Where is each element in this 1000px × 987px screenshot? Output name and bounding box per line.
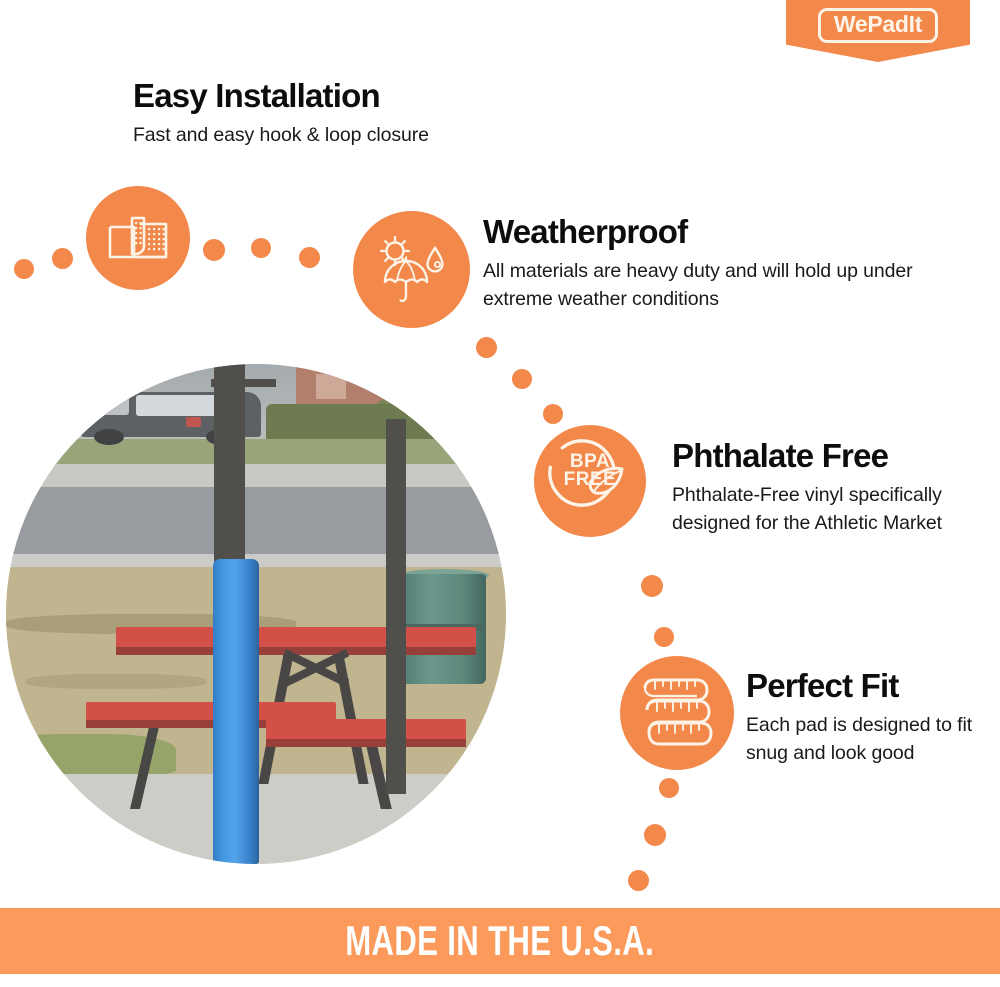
trail-dot [659, 778, 679, 798]
brand-logo[interactable]: WePadIt [786, 0, 970, 62]
trail-dot [251, 238, 271, 258]
logo-outline: WePadIt [818, 8, 938, 43]
feature-desc-easy-installation: Fast and easy hook & loop closure [133, 122, 653, 150]
trail-dot [52, 248, 73, 269]
feature-text-perfect-fit: Perfect Fit Each pad is designed to fit … [746, 668, 976, 767]
feature-text-easy-installation: Easy Installation Fast and easy hook & l… [133, 78, 653, 150]
bpa-line-2: FREE [534, 471, 646, 489]
hook-and-loop-icon [86, 186, 190, 290]
trail-dot [654, 627, 674, 647]
logo-text-we: We [834, 11, 868, 37]
trail-dot [203, 239, 225, 261]
product-photo [6, 364, 506, 864]
measuring-tape-icon [620, 656, 734, 770]
feature-desc-perfect-fit: Each pad is designed to fit snug and loo… [746, 712, 976, 767]
infographic-page: WePadIt Easy Installation Fast and easy … [0, 0, 1000, 987]
logo-text-pad: Pad [867, 11, 908, 37]
logo-text: WePadIt [834, 13, 922, 36]
trail-dot [299, 247, 320, 268]
feature-title-easy-installation: Easy Installation [133, 78, 653, 115]
trail-dot [628, 870, 649, 891]
feature-title-perfect-fit: Perfect Fit [746, 668, 976, 705]
feature-desc-phthalate-free: Phthalate-Free vinyl specifically design… [672, 482, 972, 537]
trail-dot [476, 337, 497, 358]
logo-text-it: It [909, 11, 922, 37]
trail-dot [644, 824, 666, 846]
trail-dot [543, 404, 563, 424]
made-in-usa-text: MADE IN THE U.S.A. [346, 917, 655, 965]
trail-dot [641, 575, 663, 597]
made-in-usa-banner: MADE IN THE U.S.A. [0, 908, 1000, 974]
feature-text-weatherproof: Weatherproof All materials are heavy dut… [483, 214, 913, 313]
feature-title-weatherproof: Weatherproof [483, 214, 913, 251]
feature-text-phthalate-free: Phthalate Free Phthalate-Free vinyl spec… [672, 438, 972, 537]
feature-title-phthalate-free: Phthalate Free [672, 438, 972, 475]
feature-desc-weatherproof: All materials are heavy duty and will ho… [483, 258, 913, 313]
bpa-free-badge-text: BPA FREE [534, 453, 646, 490]
sun-umbrella-raindrop-icon [353, 211, 470, 328]
trail-dot [512, 369, 532, 389]
trail-dot [14, 259, 34, 279]
bpa-free-leaf-icon: BPA FREE [534, 425, 646, 537]
